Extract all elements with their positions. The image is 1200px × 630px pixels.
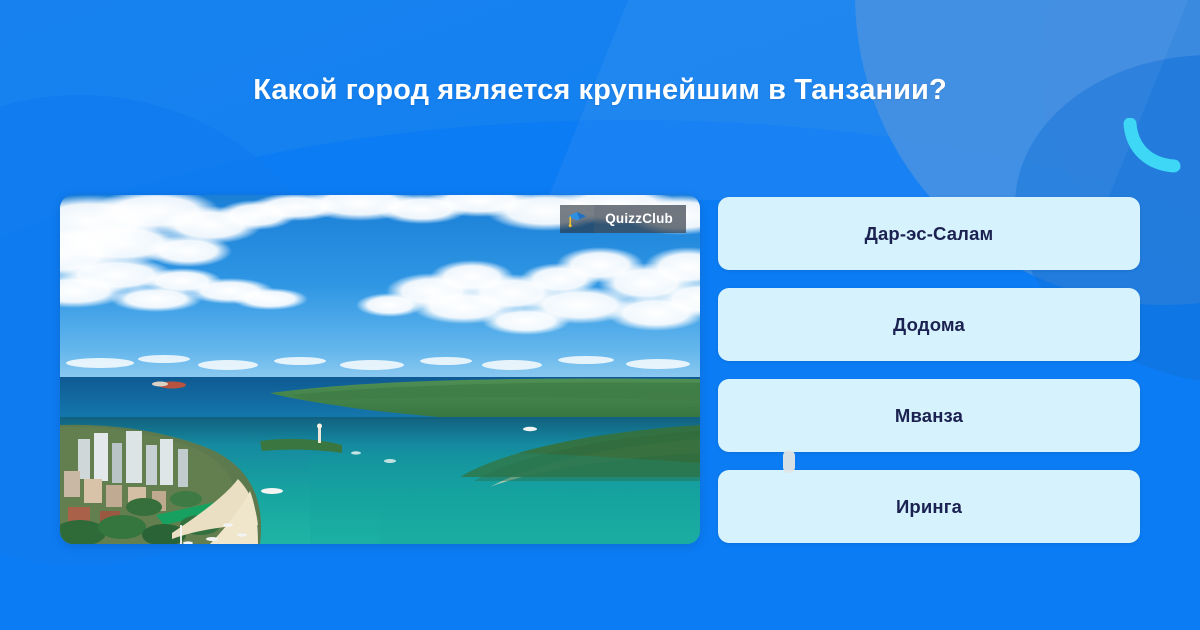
answer-option-2[interactable]: Додома bbox=[718, 288, 1140, 361]
answer-option-4[interactable]: Иринга bbox=[718, 470, 1140, 543]
page-title: Какой город является крупнейшим в Танзан… bbox=[0, 74, 1200, 107]
scrollbar-thumb[interactable] bbox=[783, 450, 795, 473]
question-image: QuizzClub bbox=[60, 195, 700, 544]
watermark: QuizzClub bbox=[560, 205, 686, 233]
answer-options: Дар-эс-Салам Додома Мванза Иринга bbox=[718, 197, 1140, 543]
watermark-brand: QuizzClub bbox=[594, 205, 686, 233]
answer-option-3[interactable]: Мванза bbox=[718, 379, 1140, 452]
cyan-arc-icon bbox=[1122, 118, 1184, 176]
answer-option-1[interactable]: Дар-эс-Салам bbox=[718, 197, 1140, 270]
graduation-cap-icon bbox=[560, 205, 594, 233]
quiz-card: Какой город является крупнейшим в Танзан… bbox=[0, 0, 1200, 630]
